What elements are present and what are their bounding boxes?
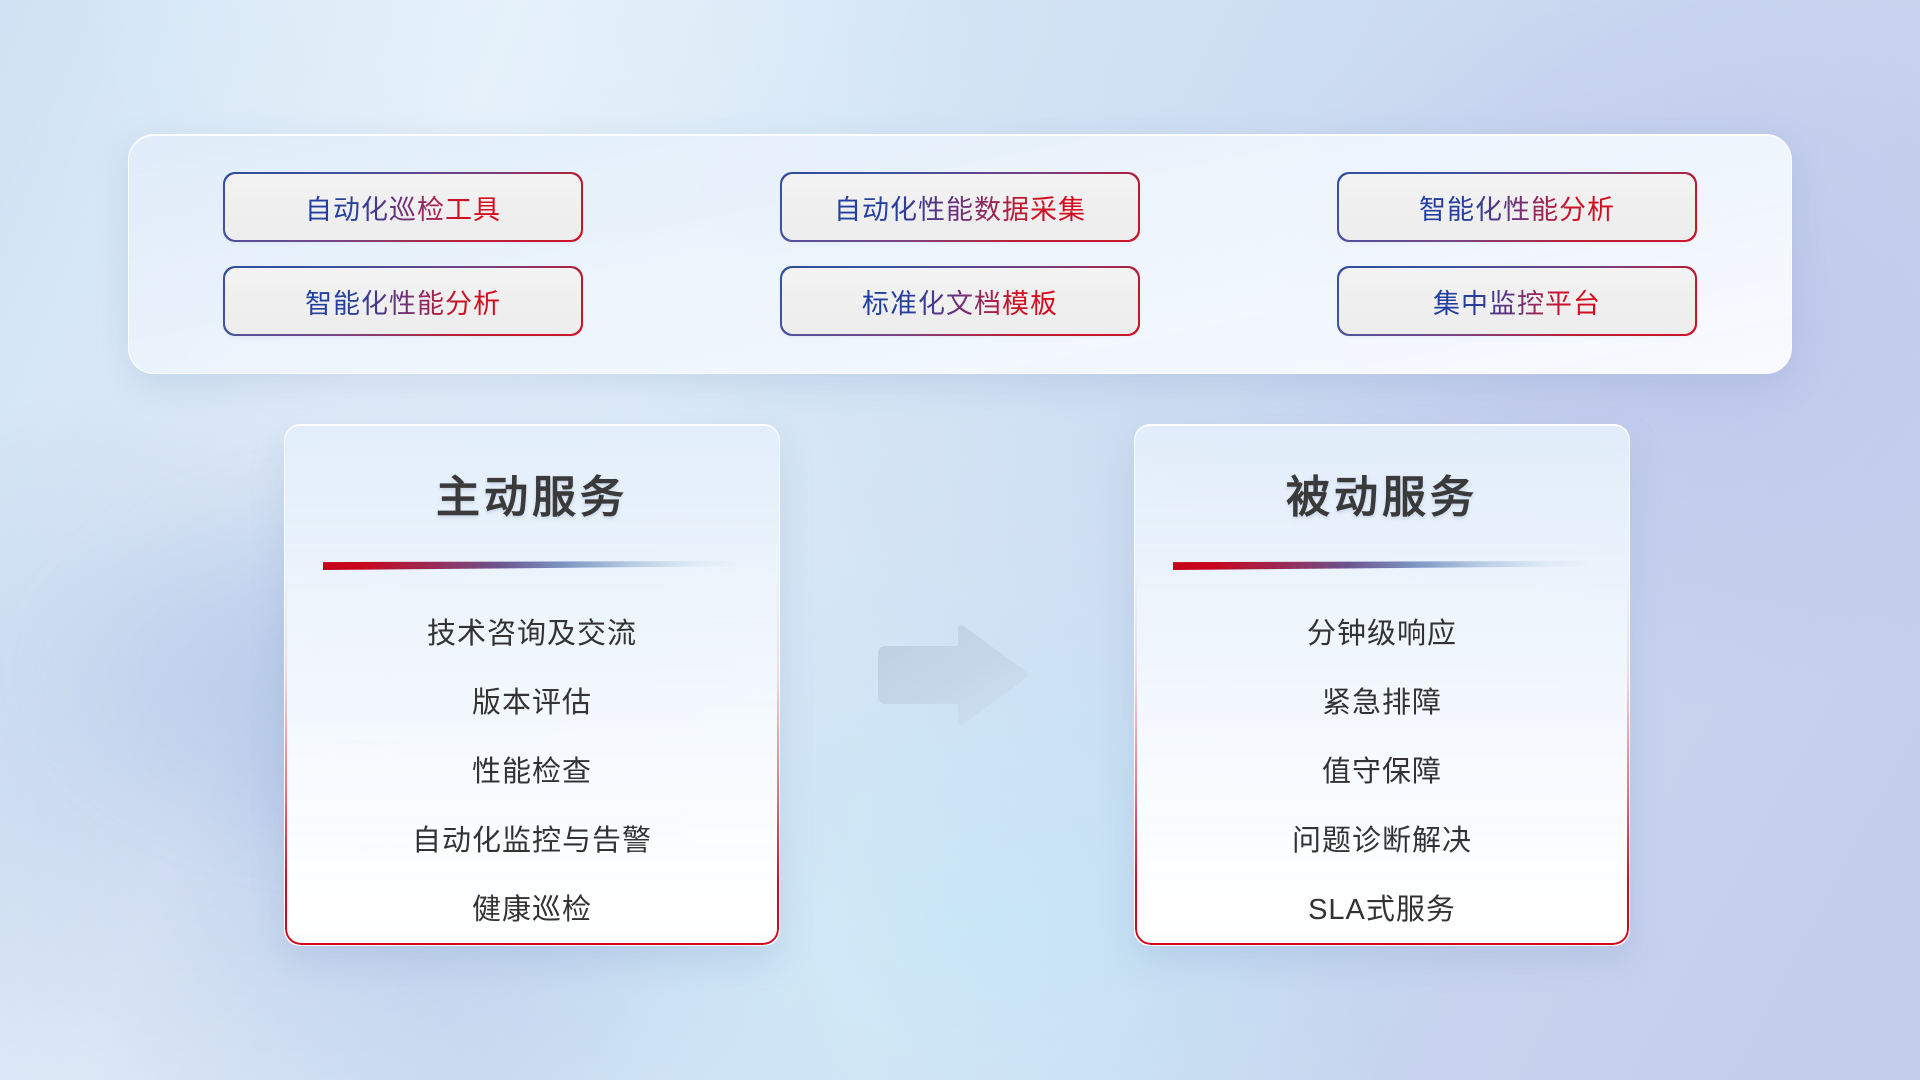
- tag-pill-intelligent-performance-analysis-2[interactable]: 智能化性能分析: [225, 268, 581, 334]
- card-title: 被动服务: [1135, 461, 1629, 525]
- card-item: 值守保障: [1322, 748, 1442, 790]
- tag-pill-label: 集中监控平台: [1433, 282, 1601, 321]
- right-arrow-icon: [872, 620, 1032, 730]
- capability-tag-panel: 自动化巡检工具 自动化性能数据采集 智能化性能分析 智能化性能分析 标准化文档模…: [128, 134, 1792, 374]
- card-title: 主动服务: [285, 461, 779, 525]
- service-card-proactive[interactable]: 主动服务 技术咨询及交流 版本评估 性能检查 自动化监控与告警 健康巡检: [284, 424, 780, 946]
- tag-pill-centralized-monitoring-platform[interactable]: 集中监控平台: [1339, 268, 1695, 334]
- tag-pill-automation-inspection-tool[interactable]: 自动化巡检工具: [225, 174, 581, 240]
- tag-pill-label: 自动化性能数据采集: [834, 188, 1086, 227]
- service-card-reactive[interactable]: 被动服务 分钟级响应 紧急排障 值守保障 问题诊断解决 SLA式服务: [1134, 424, 1630, 946]
- card-item: 技术咨询及交流: [427, 610, 637, 652]
- card-item: 紧急排障: [1322, 679, 1442, 721]
- card-divider-bar: [1173, 561, 1591, 570]
- tag-pill-label: 智能化性能分析: [1419, 188, 1615, 227]
- card-item: 版本评估: [472, 679, 592, 721]
- card-item: 分钟级响应: [1307, 610, 1457, 652]
- card-divider: [323, 561, 741, 570]
- tag-pill-standardized-document-template[interactable]: 标准化文档模板: [782, 268, 1138, 334]
- tag-row-2: 智能化性能分析 标准化文档模板 集中监控平台: [129, 268, 1791, 334]
- tag-pill-label: 标准化文档模板: [862, 282, 1058, 321]
- tag-pill-intelligent-performance-analysis[interactable]: 智能化性能分析: [1339, 174, 1695, 240]
- card-item: 自动化监控与告警: [412, 817, 652, 859]
- tag-pill-automation-performance-data-collection[interactable]: 自动化性能数据采集: [782, 174, 1138, 240]
- tag-pill-label: 智能化性能分析: [305, 282, 501, 321]
- card-divider: [1173, 561, 1591, 570]
- card-divider-bar: [323, 561, 741, 570]
- card-item-list: 技术咨询及交流 版本评估 性能检查 自动化监控与告警 健康巡检: [285, 610, 779, 928]
- diagram-canvas: 自动化巡检工具 自动化性能数据采集 智能化性能分析 智能化性能分析 标准化文档模…: [0, 0, 1920, 1080]
- tag-row-1: 自动化巡检工具 自动化性能数据采集 智能化性能分析: [129, 174, 1791, 240]
- tag-pill-label: 自动化巡检工具: [305, 188, 501, 227]
- card-item: SLA式服务: [1308, 886, 1456, 928]
- card-item-list: 分钟级响应 紧急排障 值守保障 问题诊断解决 SLA式服务: [1135, 610, 1629, 928]
- card-item: 健康巡检: [472, 886, 592, 928]
- card-item: 问题诊断解决: [1292, 817, 1472, 859]
- card-item: 性能检查: [472, 748, 592, 790]
